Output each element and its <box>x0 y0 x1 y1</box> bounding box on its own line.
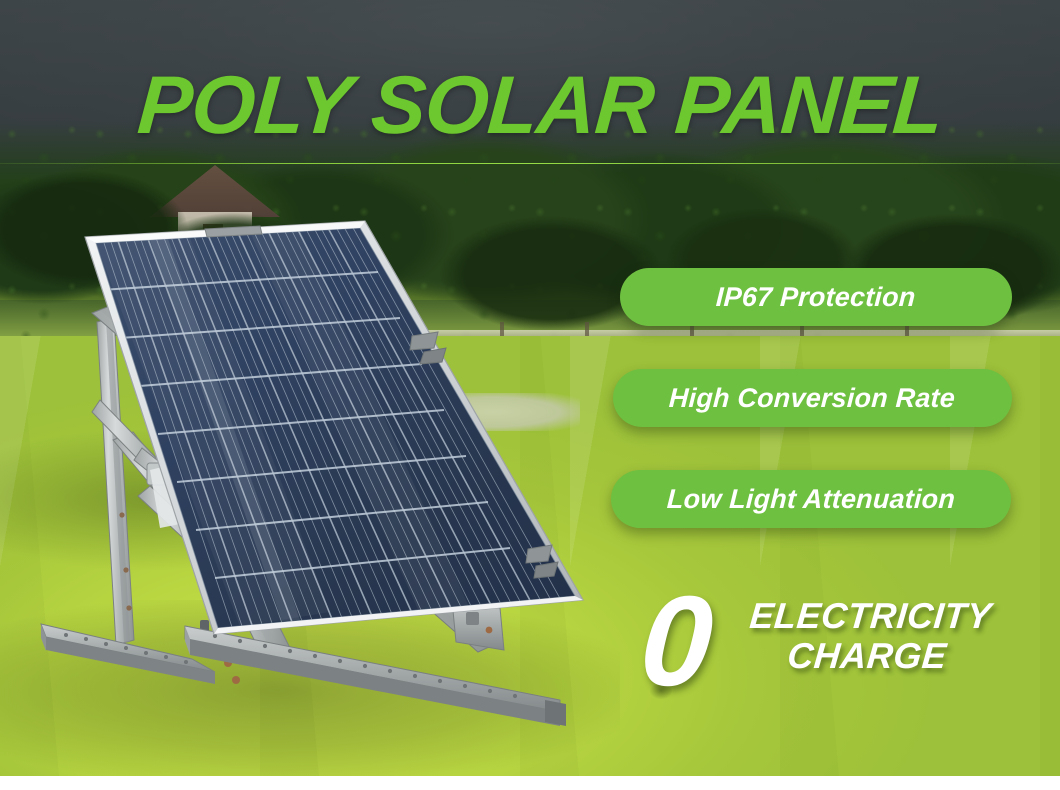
feature-badge-label: Low Light Attenuation <box>666 484 956 515</box>
feature-badge-conversion-rate: High Conversion Rate <box>613 369 1012 427</box>
front-base-rail <box>185 626 566 726</box>
zero-number: 0 <box>637 578 717 706</box>
feature-badge-low-light-attenuation: Low Light Attenuation <box>611 470 1011 528</box>
feature-badge-label: IP67 Protection <box>715 282 916 313</box>
bottom-white-strip <box>0 776 1060 790</box>
electricity-charge-text: ELECTRICITY CHARGE <box>745 596 994 676</box>
feature-badge-label: High Conversion Rate <box>669 383 957 414</box>
feature-badge-ip67: IP67 Protection <box>620 268 1012 326</box>
electricity-charge-line1: ELECTRICITY <box>748 596 993 636</box>
solar-panel <box>85 221 583 634</box>
page-title: POLY SOLAR PANEL <box>135 59 946 153</box>
electricity-charge-line2: CHARGE <box>745 636 990 676</box>
solar-panel-promo-banner: POLY SOLAR PANEL IP67 Protection High Co… <box>0 0 1060 790</box>
